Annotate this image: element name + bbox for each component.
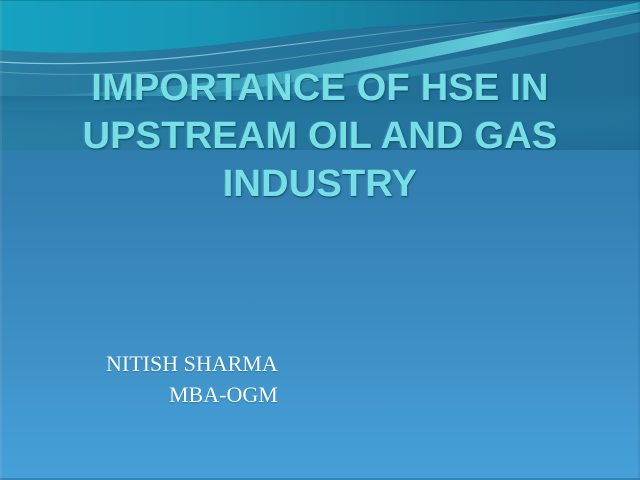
wave-band-teal-top — [0, 0, 640, 54]
author-program: MBA-OGM — [64, 379, 504, 410]
title-line-3: INDUSTRY — [30, 160, 610, 208]
wave-hairline-accent — [0, 12, 560, 64]
author-name: NITISH SHARMA — [64, 348, 504, 379]
title-slide: IMPORTANCE OF HSE IN UPSTREAM OIL AND GA… — [0, 0, 640, 480]
slide-border-left — [0, 0, 2, 480]
slide-subtitle: NITISH SHARMA MBA-OGM — [64, 348, 504, 410]
slide-border-top — [0, 0, 640, 1]
title-line-2: UPSTREAM OIL AND GAS — [30, 112, 610, 160]
slide-title: IMPORTANCE OF HSE IN UPSTREAM OIL AND GA… — [30, 64, 610, 208]
title-line-1: IMPORTANCE OF HSE IN — [30, 64, 610, 112]
